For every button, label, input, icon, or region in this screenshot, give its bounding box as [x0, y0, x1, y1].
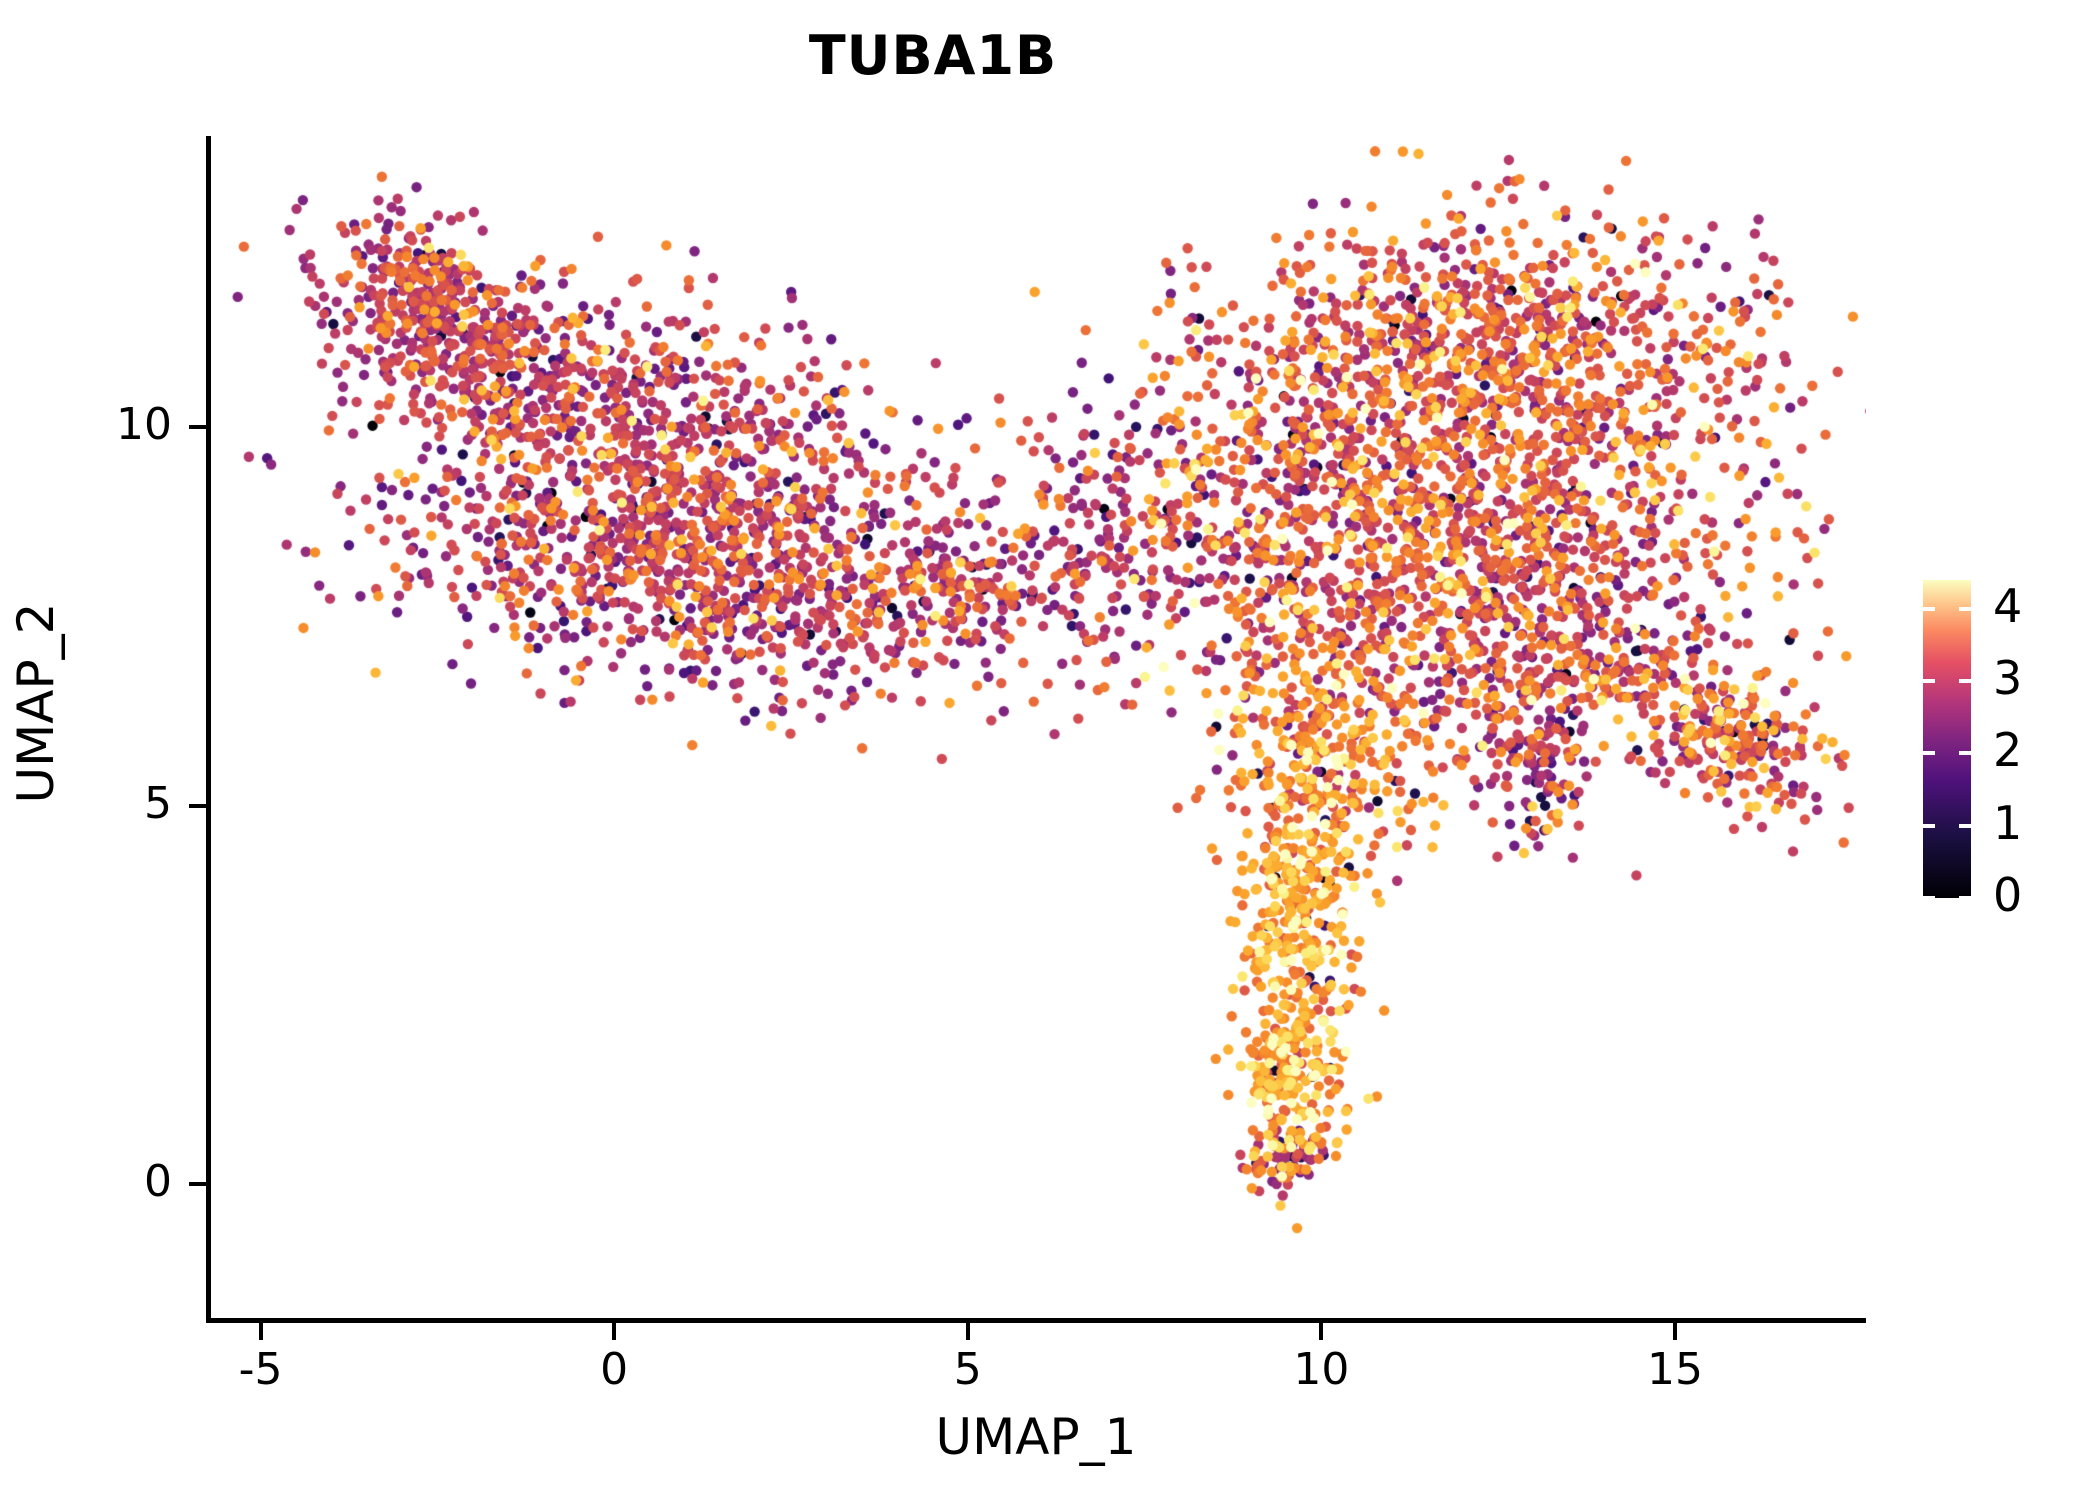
x-axis-label: UMAP_1: [206, 1408, 1866, 1466]
y-tick-mark: [189, 804, 206, 808]
x-tick-mark: [1319, 1323, 1323, 1340]
scatter-canvas: [211, 140, 1866, 1252]
x-tick-mark: [966, 1323, 970, 1340]
colorbar-tick-mark: [1923, 896, 1935, 900]
colorbar-tick-label: 1: [1993, 796, 2083, 850]
colorbar-tick-mark: [1959, 607, 1971, 611]
x-tick-label: 0: [534, 1344, 694, 1395]
colorbar-tick-label: 3: [1993, 651, 2083, 705]
x-tick-mark: [1673, 1323, 1677, 1340]
scatter-plot-area: [211, 140, 1866, 1252]
colorbar-tick-mark: [1959, 751, 1971, 755]
x-tick-mark: [259, 1323, 263, 1340]
colorbar-tick-mark: [1959, 679, 1971, 683]
x-tick-label: -5: [181, 1344, 341, 1395]
x-tick-label: 15: [1595, 1344, 1755, 1395]
colorbar-tick-mark: [1923, 607, 1935, 611]
page-title: TUBA1B: [0, 24, 1866, 87]
colorbar-tick-mark: [1959, 824, 1971, 828]
colorbar-gradient: [1923, 580, 1971, 898]
x-tick-mark: [612, 1323, 616, 1340]
x-tick-label: 10: [1241, 1344, 1401, 1395]
y-axis-label: UMAP_2: [6, 147, 66, 1259]
colorbar-tick-mark: [1923, 751, 1935, 755]
y-tick-mark: [189, 1182, 206, 1186]
colorbar-tick-label: 2: [1993, 723, 2083, 777]
y-tick-mark: [189, 425, 206, 429]
y-axis-spine: [206, 136, 211, 1322]
x-tick-label: 5: [888, 1344, 1048, 1395]
colorbar-tick-mark: [1923, 824, 1935, 828]
x-axis-spine: [206, 1318, 1866, 1323]
colorbar-tick-label: 0: [1993, 868, 2083, 922]
y-axis-label-wrap: UMAP_2: [6, 147, 66, 1259]
colorbar-tick-label: 4: [1993, 579, 2083, 633]
colorbar-tick-mark: [1959, 896, 1971, 900]
colorbar-tick-mark: [1923, 679, 1935, 683]
figure-root: TUBA1B -5051015 0510 UMAP_1 UMAP_2 01234: [0, 0, 2100, 1500]
colorbar: [1923, 580, 1971, 898]
